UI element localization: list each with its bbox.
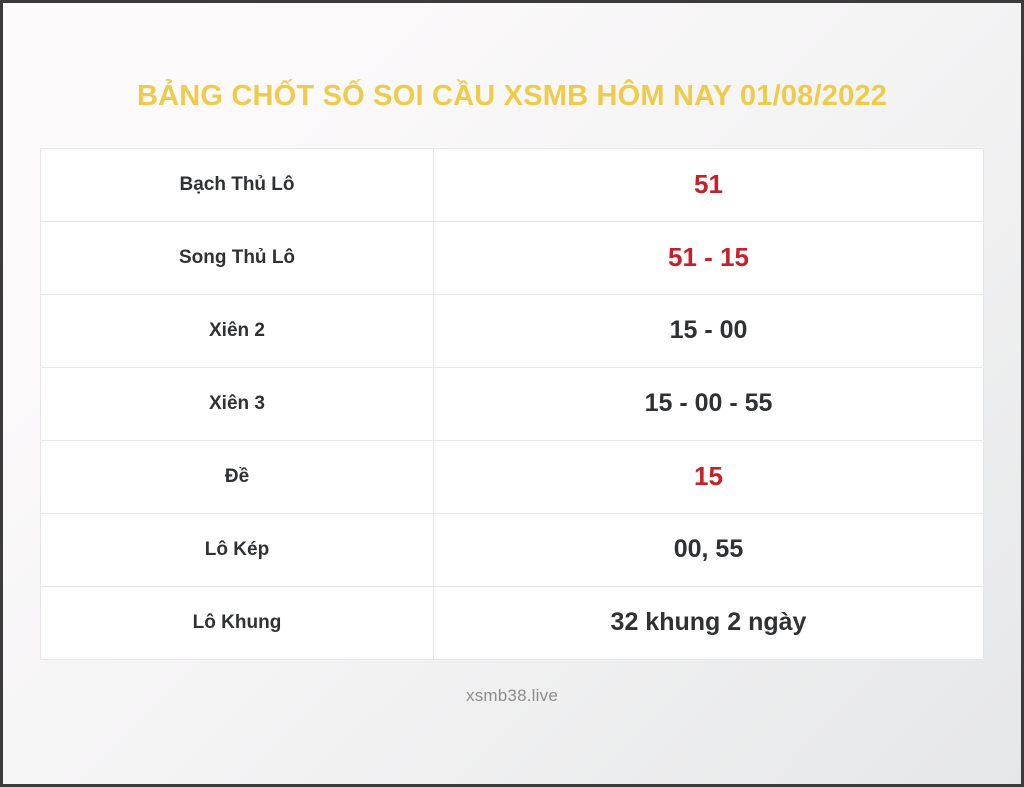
image-frame: BẢNG CHỐT SỐ SOI CẦU XSMB HÔM NAY 01/08/… [0, 0, 1024, 787]
row-label: Đề [41, 440, 434, 513]
prediction-table-body: Bạch Thủ Lô51Song Thủ Lô51 - 15Xiên 215 … [41, 148, 984, 659]
row-value: 00, 55 [434, 513, 984, 586]
row-value: 32 khung 2 ngày [434, 586, 984, 659]
table-row: Xiên 215 - 00 [41, 294, 984, 367]
row-label: Bạch Thủ Lô [41, 148, 434, 221]
row-value: 15 - 00 - 55 [434, 367, 984, 440]
row-label: Xiên 3 [41, 367, 434, 440]
table-row: Đề15 [41, 440, 984, 513]
content-area: BẢNG CHỐT SỐ SOI CẦU XSMB HÔM NAY 01/08/… [3, 3, 1021, 784]
table-row: Lô Kép00, 55 [41, 513, 984, 586]
row-value: 15 - 00 [434, 294, 984, 367]
row-label: Lô Kép [41, 513, 434, 586]
row-label: Xiên 2 [41, 294, 434, 367]
row-label: Lô Khung [41, 586, 434, 659]
page-title: BẢNG CHỐT SỐ SOI CẦU XSMB HÔM NAY 01/08/… [40, 3, 984, 113]
table-row: Lô Khung32 khung 2 ngày [41, 586, 984, 659]
row-value: 51 [434, 148, 984, 221]
site-watermark: xsmb38.live [40, 686, 984, 706]
row-value: 51 - 15 [434, 221, 984, 294]
row-label: Song Thủ Lô [41, 221, 434, 294]
row-value: 15 [434, 440, 984, 513]
prediction-table: Bạch Thủ Lô51Song Thủ Lô51 - 15Xiên 215 … [40, 148, 984, 660]
table-row: Bạch Thủ Lô51 [41, 148, 984, 221]
table-row: Song Thủ Lô51 - 15 [41, 221, 984, 294]
table-row: Xiên 315 - 00 - 55 [41, 367, 984, 440]
